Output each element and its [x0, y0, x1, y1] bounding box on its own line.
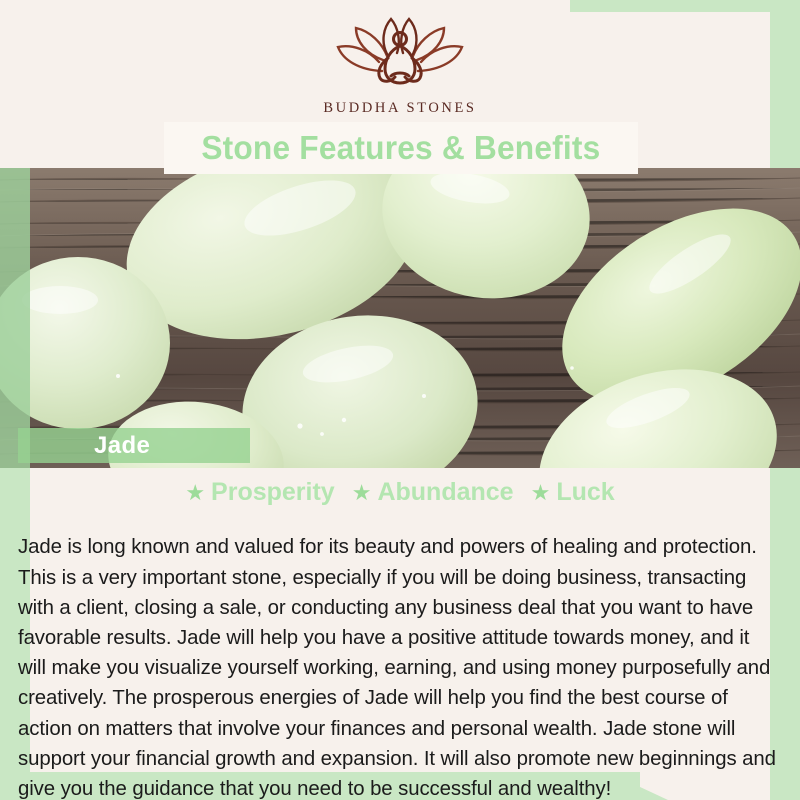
lotus-meditation-icon	[325, 14, 475, 97]
keyword-list: ★ Prosperity ★ Abundance ★ Luck	[0, 478, 800, 507]
brand-logo: BUDDHA STONES	[0, 14, 800, 117]
page-title: Stone Features & Benefits	[201, 129, 600, 167]
keyword-item-prosperity: ★ Prosperity	[185, 478, 334, 507]
keyword-label: Abundance	[377, 478, 513, 507]
stone-photo-illustration	[0, 168, 800, 468]
star-icon: ★	[531, 482, 551, 504]
poster-root: BUDDHA STONES	[0, 0, 800, 800]
decor-top-right-band	[570, 0, 800, 12]
description-text: Jade is long known and valued for its be…	[18, 532, 782, 800]
keyword-label: Luck	[556, 478, 614, 507]
star-icon: ★	[352, 482, 372, 504]
stone-name-band: Jade	[18, 428, 250, 463]
keyword-item-luck: ★ Luck	[531, 478, 615, 507]
decor-left-band-upper	[0, 168, 30, 468]
keyword-item-abundance: ★ Abundance	[352, 478, 514, 507]
brand-name: BUDDHA STONES	[323, 100, 476, 117]
title-plate: Stone Features & Benefits	[164, 122, 638, 174]
keyword-label: Prosperity	[211, 478, 335, 507]
star-icon: ★	[185, 482, 205, 504]
stone-photo	[0, 168, 800, 468]
stone-name-label: Jade	[94, 432, 150, 460]
